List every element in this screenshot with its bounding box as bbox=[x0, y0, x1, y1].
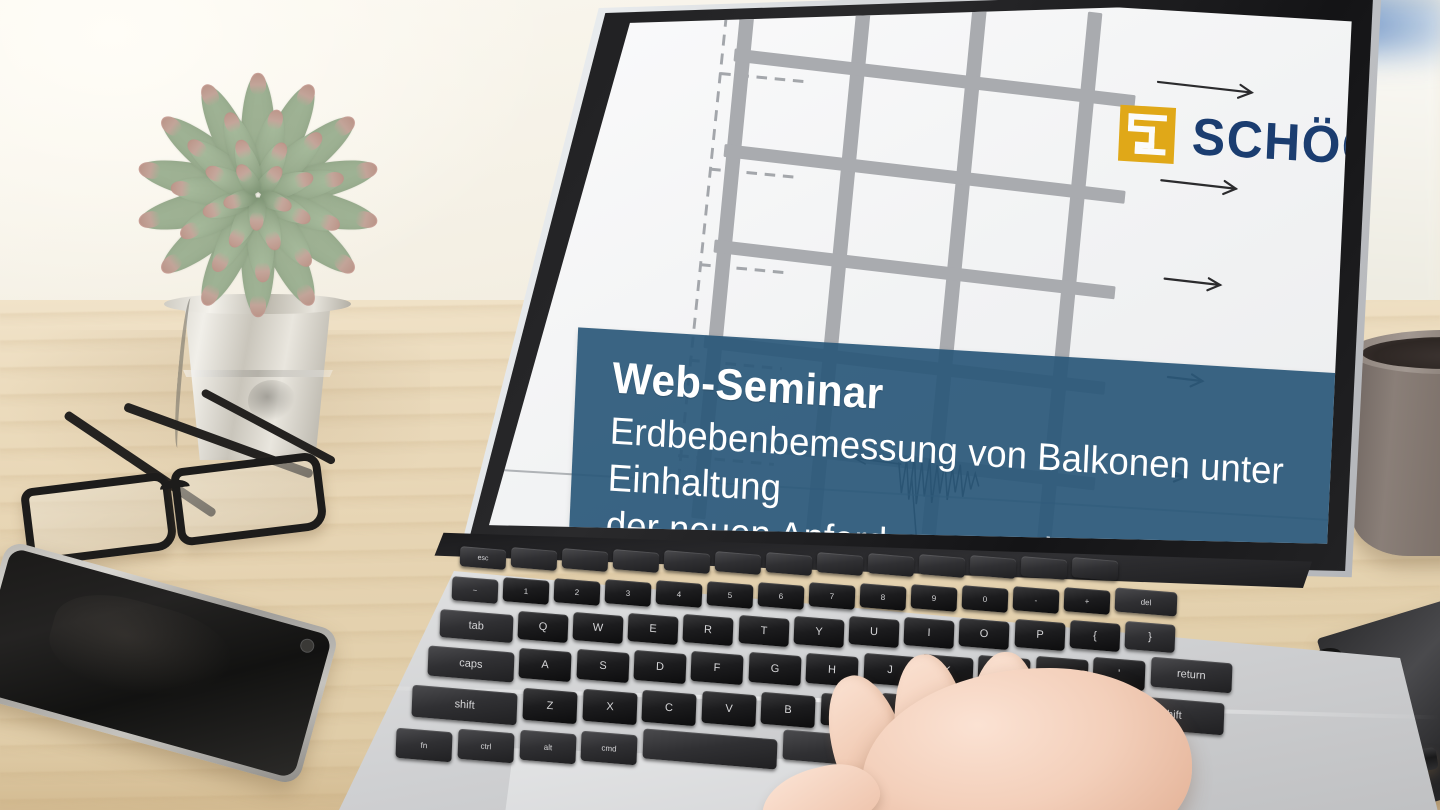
keyboard-key[interactable]: F bbox=[691, 651, 744, 685]
keyboard-key[interactable]: shift bbox=[411, 685, 517, 726]
keyboard-key[interactable]: 4 bbox=[656, 580, 703, 608]
keyboard-key[interactable]: tab bbox=[439, 609, 513, 643]
keyboard-key[interactable]: 6 bbox=[758, 582, 805, 610]
keyboard-key[interactable]: W bbox=[572, 612, 623, 644]
keyboard-key[interactable]: 8 bbox=[860, 583, 907, 611]
keyboard-key[interactable]: + bbox=[1064, 587, 1111, 615]
keyboard-key[interactable] bbox=[562, 548, 609, 572]
keyboard-key[interactable] bbox=[970, 555, 1017, 579]
keyboard-key[interactable] bbox=[766, 552, 813, 576]
keyboard-key[interactable]: 1 bbox=[503, 577, 550, 605]
keyboard-key[interactable]: 0 bbox=[962, 585, 1009, 613]
keyboard-key[interactable]: 3 bbox=[605, 579, 652, 607]
keyboard-key[interactable] bbox=[919, 554, 966, 578]
keyboard-key[interactable]: 5 bbox=[707, 581, 754, 609]
keyboard-key[interactable]: - bbox=[1013, 586, 1060, 614]
keyboard-key[interactable]: alt bbox=[519, 730, 576, 765]
keyboard-key[interactable] bbox=[511, 547, 558, 571]
keyboard-key[interactable]: D bbox=[633, 650, 686, 684]
keyboard-key[interactable]: fn bbox=[395, 728, 452, 763]
keyboard-key[interactable]: Z bbox=[522, 688, 577, 724]
keyboard-key[interactable]: R bbox=[683, 614, 734, 646]
keyboard-key[interactable]: esc bbox=[460, 546, 507, 570]
keyboard-key[interactable]: Q bbox=[517, 611, 568, 643]
keyboard-key[interactable]: 2 bbox=[554, 578, 601, 606]
schoeck-s-mark-icon bbox=[1116, 102, 1178, 168]
keyboard-key[interactable]: ~ bbox=[452, 576, 499, 604]
keyboard-key[interactable]: C bbox=[641, 690, 696, 726]
keyboard-key[interactable]: 9 bbox=[911, 584, 958, 612]
keyboard-key[interactable]: cmd bbox=[581, 730, 638, 765]
keyboard-key[interactable]: 7 bbox=[809, 583, 856, 611]
keyboard-key[interactable]: del bbox=[1115, 587, 1178, 616]
keyboard-key[interactable] bbox=[664, 550, 711, 574]
keyboard-key[interactable]: caps bbox=[427, 645, 514, 682]
keyboard-key[interactable]: S bbox=[576, 649, 629, 683]
keyboard-key[interactable] bbox=[613, 549, 660, 573]
keyboard-key[interactable]: E bbox=[628, 613, 679, 645]
keyboard-key[interactable] bbox=[868, 553, 915, 577]
keyboard-key[interactable] bbox=[1072, 557, 1119, 581]
desk-scene: SCHÖCK Web-Seminar Erdbebenbemessung von… bbox=[0, 0, 1440, 810]
keyboard-key[interactable]: A bbox=[519, 648, 572, 682]
keyboard-key[interactable] bbox=[1021, 556, 1068, 580]
keyboard-key[interactable] bbox=[715, 551, 762, 575]
hand-typing bbox=[742, 620, 1212, 810]
keyboard-key[interactable]: X bbox=[582, 689, 637, 725]
keyboard-key[interactable] bbox=[817, 553, 864, 577]
keyboard-key[interactable]: ctrl bbox=[457, 729, 514, 764]
